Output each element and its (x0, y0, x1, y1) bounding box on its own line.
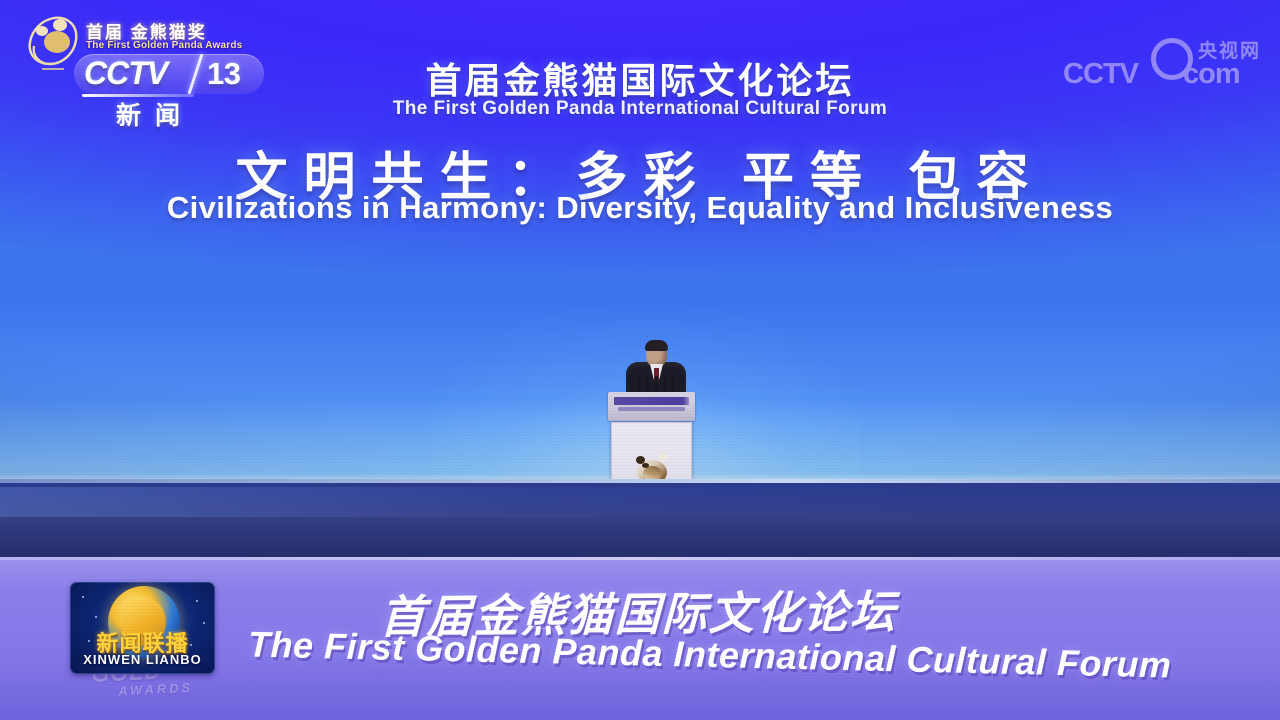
star-icon (82, 596, 84, 598)
star-icon (95, 616, 97, 618)
broadcast-frame: 首届金熊猫国际文化论坛 The First Golden Panda Inter… (0, 0, 1280, 720)
cctv13-logo: CCTV 13 (74, 54, 264, 96)
watermark-name-cn: 央视网 (1198, 36, 1261, 63)
stage-riser (0, 479, 1280, 559)
podium-banner-cn (614, 397, 689, 405)
panda-eye-patch (642, 463, 649, 468)
speaker-hair (645, 340, 668, 351)
watermark-network: CCTV (1063, 58, 1138, 91)
speaker-figure (624, 342, 688, 398)
program-logo-xinwen-lianbo: 新闻联播 XINWEN LIANBO (70, 582, 215, 674)
banner-top-highlight (0, 557, 1280, 560)
led-slogan-en: Civilizations in Harmony: Diversity, Equ… (0, 190, 1280, 226)
star-icon (203, 622, 205, 624)
channel-number: 13 (207, 56, 240, 92)
cctv-com-watermark: CCTV com 央视网 (1063, 36, 1268, 94)
channel-bug: 首届 金熊猫奖 The First Golden Panda Awards CC… (16, 10, 266, 128)
network-name: CCTV (84, 55, 167, 92)
panda-ear-right (657, 453, 668, 462)
podium-banner-en (618, 407, 685, 411)
star-icon (196, 600, 198, 602)
channel-name-cn: 新闻 (116, 96, 194, 132)
riser-sheen (0, 487, 1280, 517)
award-name-en: The First Golden Panda Awards (86, 40, 242, 51)
program-name-pinyin: XINWEN LIANBO (70, 652, 215, 667)
podium-top-panel (608, 392, 695, 421)
